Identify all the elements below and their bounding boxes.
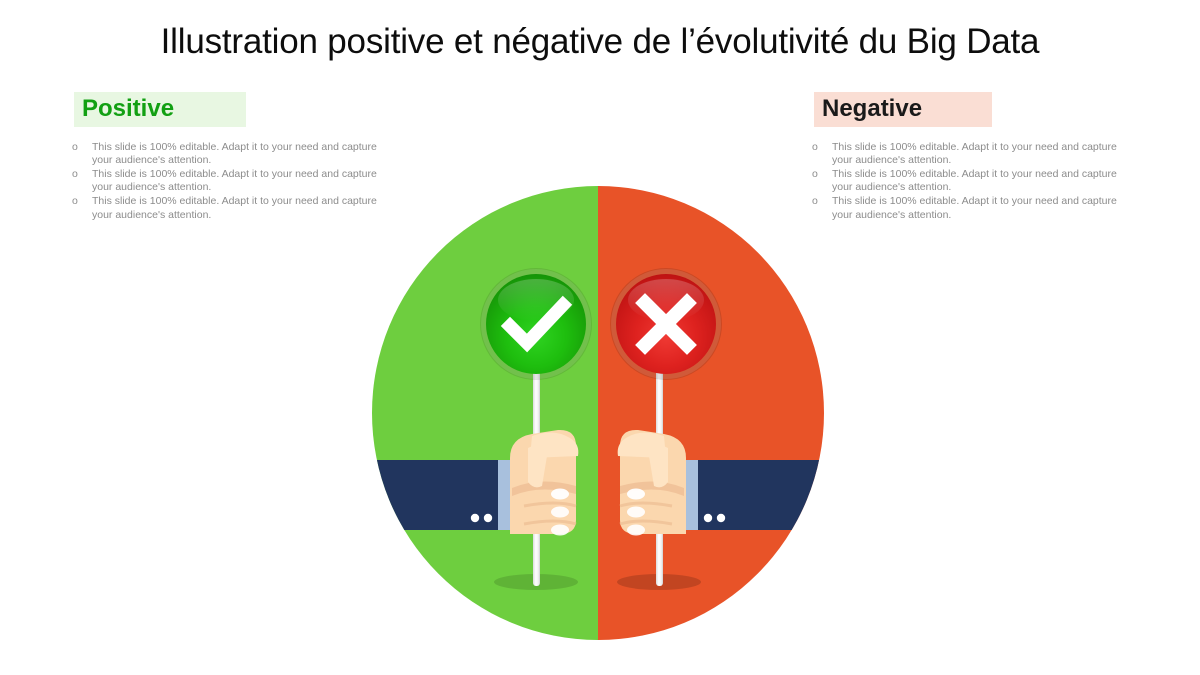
list-item-label: This slide is 100% editable. Adapt it to… xyxy=(92,141,396,168)
list-item-label: This slide is 100% editable. Adapt it to… xyxy=(92,168,396,195)
check-icon xyxy=(486,274,586,374)
bullet-marker-icon: o xyxy=(812,141,818,154)
bullet-marker-icon: o xyxy=(72,141,78,154)
cross-icon xyxy=(616,274,716,374)
cuff-left xyxy=(498,460,510,530)
list-item: o This slide is 100% editable. Adapt it … xyxy=(806,168,1136,195)
list-item-label: This slide is 100% editable. Adapt it to… xyxy=(92,195,396,222)
bullet-marker-icon: o xyxy=(812,168,818,181)
positive-sign xyxy=(486,274,586,374)
positive-heading: Positive xyxy=(74,92,246,127)
list-item: o This slide is 100% editable. Adapt it … xyxy=(806,195,1136,222)
negative-bullet-list: o This slide is 100% editable. Adapt it … xyxy=(806,141,1136,222)
list-item: o This slide is 100% editable. Adapt it … xyxy=(66,168,396,195)
cuff-button-icon xyxy=(717,514,725,522)
bullet-marker-icon: o xyxy=(72,168,78,181)
negative-column: Negative o This slide is 100% editable. … xyxy=(806,92,1136,223)
split-circle-illustration xyxy=(372,186,824,640)
arm-right xyxy=(598,186,824,640)
list-item-label: This slide is 100% editable. Adapt it to… xyxy=(832,195,1136,222)
page-title: Illustration positive et négative de l’é… xyxy=(0,22,1200,62)
cuff-button-icon xyxy=(471,514,479,522)
cuff-button-icon xyxy=(704,514,712,522)
bullet-marker-icon: o xyxy=(72,195,78,208)
list-item: o This slide is 100% editable. Adapt it … xyxy=(806,141,1136,168)
circle-clip xyxy=(372,186,824,640)
list-item-label: This slide is 100% editable. Adapt it to… xyxy=(832,168,1136,195)
positive-bullet-list: o This slide is 100% editable. Adapt it … xyxy=(66,141,396,222)
sleeve-right xyxy=(698,460,824,530)
positive-column: Positive o This slide is 100% editable. … xyxy=(66,92,396,223)
slide-canvas: Illustration positive et négative de l’é… xyxy=(0,0,1200,675)
negative-heading: Negative xyxy=(814,92,992,127)
cuff-button-icon xyxy=(484,514,492,522)
list-item-label: This slide is 100% editable. Adapt it to… xyxy=(832,141,1136,168)
list-item: o This slide is 100% editable. Adapt it … xyxy=(66,195,396,222)
negative-sign xyxy=(616,274,716,374)
arm-left xyxy=(372,186,598,640)
hand-right xyxy=(618,430,686,536)
hand-left xyxy=(510,430,578,536)
cuff-right xyxy=(686,460,698,530)
list-item: o This slide is 100% editable. Adapt it … xyxy=(66,141,396,168)
sleeve-left xyxy=(372,460,498,530)
